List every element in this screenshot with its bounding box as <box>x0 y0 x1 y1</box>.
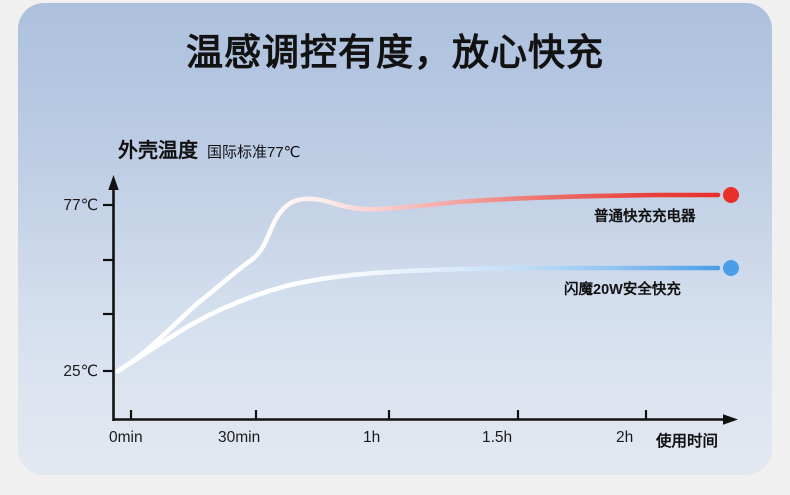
x-tick-label-1-5h: 1.5h <box>482 429 512 447</box>
y-tick-label-25: 25℃ <box>46 362 98 381</box>
x-tick-label-30min: 30min <box>218 429 260 447</box>
y-tick-label-77: 77℃ <box>46 196 98 215</box>
x-axis-title: 使用时间 <box>656 429 718 451</box>
x-axis <box>114 410 739 425</box>
x-tick-label-2h: 2h <box>616 429 633 447</box>
series-endpoint-dot-ordinary-charger <box>723 187 739 203</box>
legend-label-shanmo-20w: 闪魔20W安全快充 <box>564 278 681 299</box>
legend-label-ordinary-charger: 普通快充充电器 <box>594 205 696 226</box>
screenshot-root: 温感调控有度，放心快充 外壳温度 国际标准77℃ <box>0 0 790 495</box>
temperature-chart <box>18 3 772 475</box>
promo-card: 温感调控有度，放心快充 外壳温度 国际标准77℃ <box>18 3 772 475</box>
x-tick-label-0min: 0min <box>109 429 143 447</box>
x-tick-label-1h: 1h <box>363 429 380 447</box>
series-endpoint-dot-shanmo-20w <box>723 260 739 276</box>
y-axis <box>103 175 119 421</box>
